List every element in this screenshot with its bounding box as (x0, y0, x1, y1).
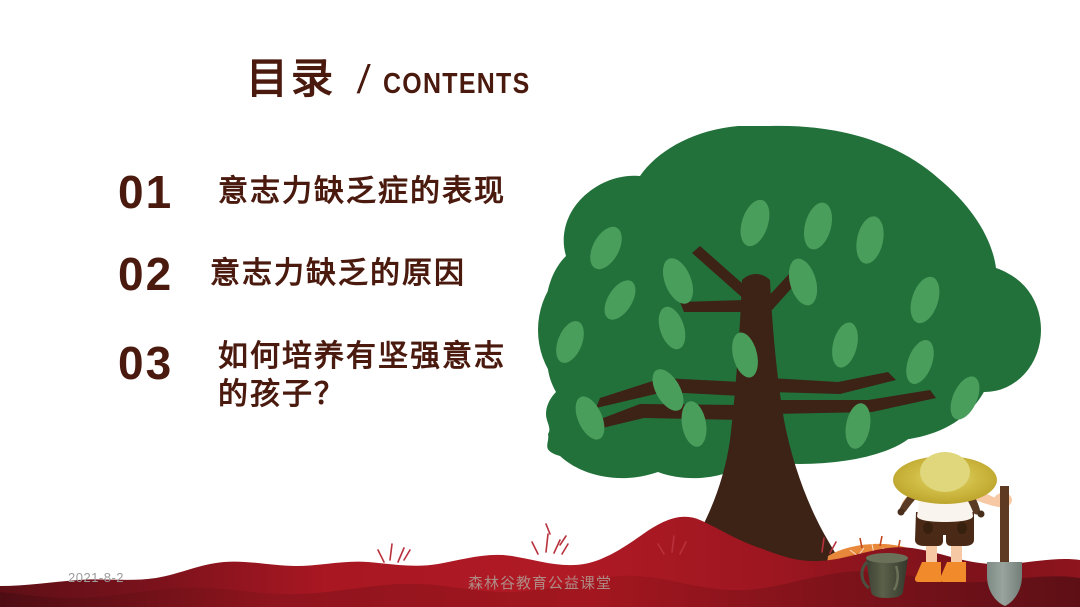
title-english: CONTENTS (383, 70, 530, 99)
arm-left (901, 487, 924, 508)
contents-item-02-line1: 意志力缺乏的原因 (210, 256, 466, 291)
contents-item-03-number: 03 (118, 333, 218, 387)
tree-canopy (545, 126, 1036, 478)
shovel-handle (1000, 486, 1009, 570)
girl-figure (893, 452, 1012, 582)
contents-item-01[interactable]: 01 意志力缺乏症的表现 (118, 168, 558, 216)
leg-right (951, 538, 962, 572)
red-hill-back (0, 517, 1080, 607)
contents-item-03[interactable]: 03 如何培养有坚强意志 的孩子？ (118, 333, 558, 415)
straw-hat-crown (920, 452, 970, 492)
shorts (915, 512, 974, 546)
contents-list: 01 意志力缺乏症的表现 02 意志力缺乏的原因 03 如何培养有坚强意志 的孩… (118, 168, 558, 414)
contents-item-03-line2: 的孩子？ (218, 376, 506, 414)
hand-right (994, 493, 1012, 507)
shorts-pocket-right (957, 522, 967, 534)
footer-brand: 森林谷教育公益课堂 (0, 572, 1080, 593)
tree-leaves (551, 196, 986, 451)
contents-item-02-label: 意志力缺乏的原因 (210, 250, 466, 293)
contents-item-03-label: 如何培养有坚强意志 的孩子？ (218, 333, 506, 415)
canopy-lobe-top (660, 128, 920, 252)
branch-upper-right (765, 262, 808, 310)
canopy-lobe-bottom (680, 376, 920, 464)
branch-mid-left (596, 378, 742, 408)
contents-item-01-label: 意志力缺乏症的表现 (218, 168, 506, 211)
branch-lower-left (594, 404, 742, 430)
contents-item-01-number: 01 (118, 168, 218, 216)
contents-item-02-number: 02 (118, 250, 210, 298)
shorts-pocket-left (923, 522, 933, 534)
tree-trunk (666, 274, 852, 586)
canopy-lobe-right (929, 268, 1041, 392)
braid-right (962, 488, 980, 514)
branch-center-left (692, 246, 752, 300)
grass-tufts (378, 524, 836, 562)
page-title: 目录 / CONTENTS (246, 58, 555, 100)
branch-upper-left (680, 300, 744, 312)
contents-item-01-line1: 意志力缺乏症的表现 (218, 174, 506, 209)
tree-branches (594, 246, 936, 430)
braid-left (900, 488, 921, 513)
arm-right (969, 487, 1003, 507)
title-separator: / (356, 60, 371, 100)
leg-left (926, 538, 937, 572)
shirt (917, 472, 973, 522)
contents-item-03-line1: 如何培养有坚强意志 (218, 339, 506, 374)
bucket-rim (866, 553, 908, 563)
soil-mound (826, 536, 944, 572)
contents-item-02[interactable]: 02 意志力缺乏的原因 (118, 250, 558, 298)
title-chinese: 目录 (246, 58, 336, 100)
tree-canopy-group (538, 126, 1041, 478)
branch-mid-right (770, 372, 896, 394)
branch-lower-right (772, 390, 936, 414)
presentation-slide: 目录 / CONTENTS 01 意志力缺乏症的表现 02 意志力缺乏的原因 0… (0, 0, 1080, 607)
straw-hat-brim (893, 456, 997, 504)
